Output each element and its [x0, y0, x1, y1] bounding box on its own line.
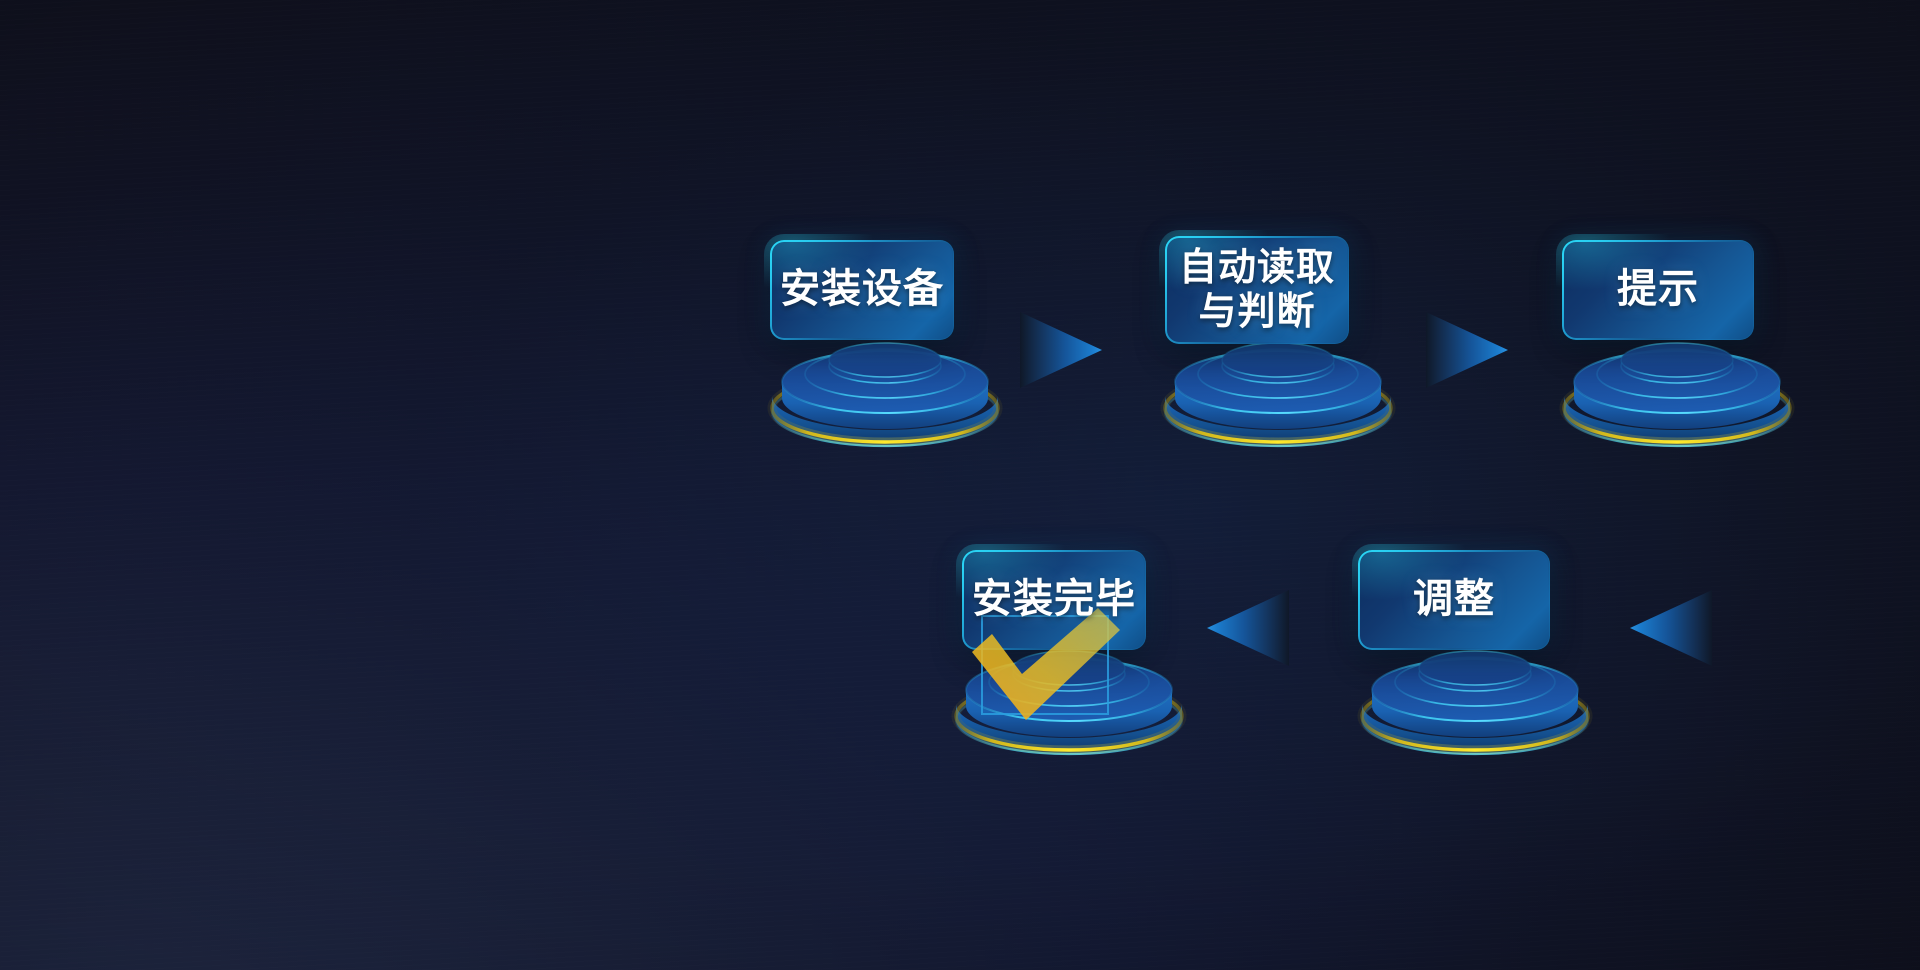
card-label-adjust: 调整	[1413, 577, 1495, 623]
background-vignette	[0, 0, 1920, 970]
card-label-auto-read-judge: 自动读取 与判断	[1179, 246, 1335, 334]
connector-arrow-1-right	[1018, 310, 1104, 390]
flow-node-auto-read-judge[interactable]: 自动读取 与判断	[1165, 240, 1395, 390]
connector-arrow-3-left	[1628, 588, 1714, 668]
card-adjust[interactable]: 调整	[1358, 550, 1550, 650]
pedestal-prompt	[1552, 340, 1802, 460]
pedestal-install-complete	[944, 648, 1194, 768]
connector-arrow-2-right	[1424, 310, 1510, 390]
flow-node-install-complete[interactable]: 安装完毕	[962, 550, 1192, 700]
card-label-prompt: 提示	[1617, 267, 1699, 313]
pedestal-install-device	[760, 340, 1010, 460]
card-install-complete[interactable]: 安装完毕	[962, 550, 1146, 650]
pedestal-adjust	[1350, 648, 1600, 768]
slide-canvas: 安装设备 自动读取 与判断	[0, 0, 1920, 970]
flow-node-install-device[interactable]: 安装设备	[770, 240, 1000, 390]
pedestal-auto-read-judge	[1153, 340, 1403, 460]
flow-node-adjust[interactable]: 调整	[1358, 550, 1588, 700]
connector-arrow-4-left	[1205, 588, 1291, 668]
card-label-install-complete: 安装完毕	[972, 577, 1136, 623]
flow-node-prompt[interactable]: 提示	[1562, 240, 1792, 390]
card-label-install-device: 安装设备	[780, 267, 944, 313]
card-install-device[interactable]: 安装设备	[770, 240, 954, 340]
card-auto-read-judge[interactable]: 自动读取 与判断	[1165, 236, 1349, 344]
card-prompt[interactable]: 提示	[1562, 240, 1754, 340]
